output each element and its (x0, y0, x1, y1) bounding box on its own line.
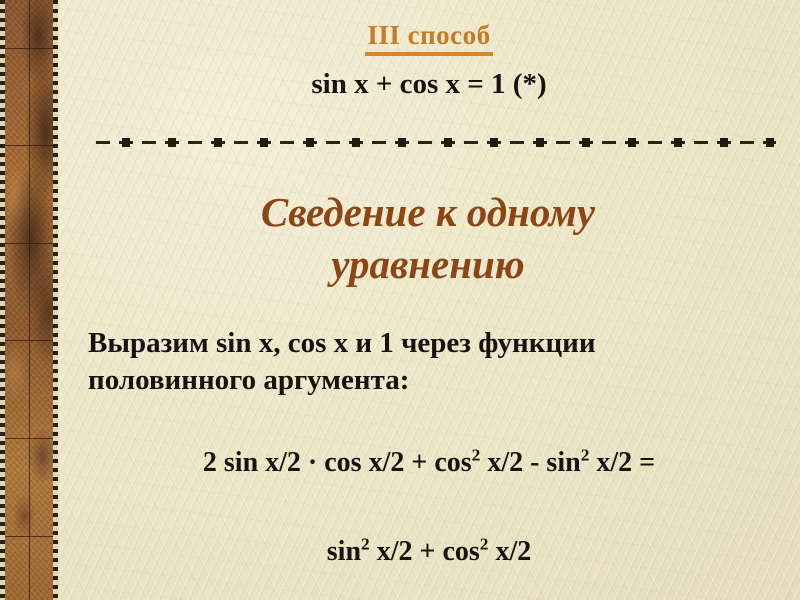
slide-title: III способ (58, 22, 800, 56)
section-heading-line-1: Сведение к одному (88, 186, 768, 238)
border-grid-horizontal-line (5, 340, 53, 341)
section-heading: Сведение к одному уравнению (88, 186, 768, 291)
formula-line-1: 2 sin x/2 · cos x/2 + cos2 x/2 - sin2 x/… (58, 448, 800, 479)
slide-title-text: III способ (365, 22, 492, 56)
starred-equation: sin x + cos x = 1 (*) (58, 69, 800, 101)
border-grid-horizontal-line (5, 536, 53, 537)
body-paragraph-line-2: половинного аргумента: (88, 362, 778, 399)
formula-2-part-2: x/2 + cos (370, 536, 480, 567)
decorative-left-border (0, 0, 58, 600)
formula-2-part-3: x/2 (488, 536, 531, 567)
border-grid-horizontal-line (5, 48, 53, 49)
presentation-slide: III способ sin x + cos x = 1 (*) Сведени… (0, 0, 800, 600)
body-paragraph: Выразим sin x, cos x и 1 через функции п… (88, 325, 778, 399)
section-heading-line-2: уравнению (88, 238, 768, 290)
border-grid-vertical-line (29, 0, 30, 600)
border-grid-horizontal-line (5, 145, 53, 146)
body-paragraph-line-1: Выразим sin x, cos x и 1 через функции (88, 325, 778, 362)
divider-dots (96, 136, 776, 148)
formula-2-part-1: sin (327, 536, 361, 567)
border-grid-lines (5, 0, 53, 600)
slide-content: III способ sin x + cos x = 1 (*) Сведени… (58, 0, 800, 600)
dash-dot-divider (96, 136, 776, 148)
formula-1-part-2: x/2 - sin (480, 447, 580, 478)
formula-2-superscript-1: 2 (361, 535, 370, 554)
formula-1-part-3: x/2 = (589, 447, 655, 478)
formula-1-part-1: 2 sin x/2 · cos x/2 + cos (203, 447, 472, 478)
border-grid-horizontal-line (5, 243, 53, 244)
border-grid-horizontal-line (5, 438, 53, 439)
formula-line-2: sin2 x/2 + cos2 x/2 (58, 537, 800, 568)
